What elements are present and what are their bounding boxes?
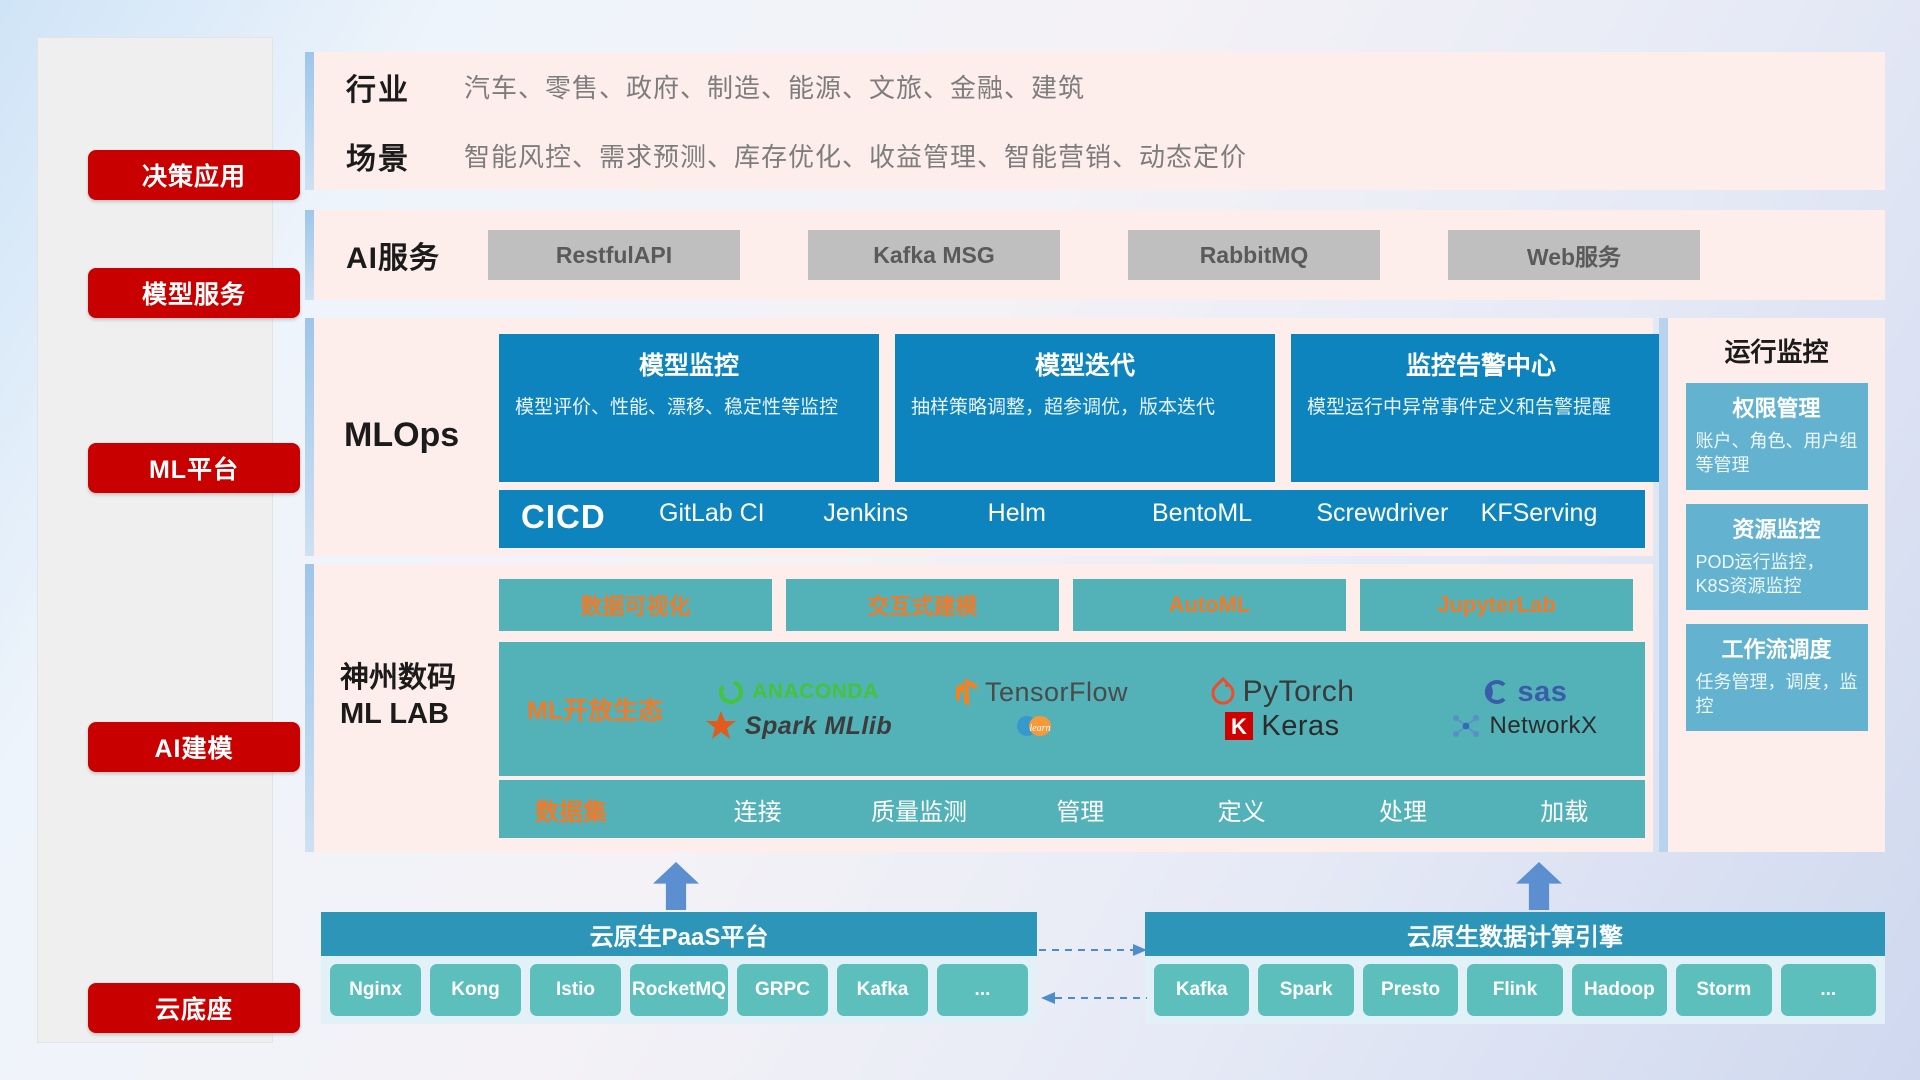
- cicd-item-jenkins[interactable]: Jenkins: [823, 490, 987, 526]
- arrow-up-data-engine-icon: [1516, 862, 1562, 910]
- card-title: 模型监控: [515, 346, 863, 382]
- ai-service-rabbitmq[interactable]: RabbitMQ: [1128, 230, 1380, 280]
- diagram-canvas: 决策应用 模型服务 ML平台 AI建模 云底座 行业 汽车、零售、政府、制造、能…: [0, 0, 1920, 1080]
- dataset-item-define[interactable]: 定义: [1161, 792, 1322, 827]
- ai-service-restfulapi[interactable]: RestfulAPI: [488, 230, 740, 280]
- decision-apps-band: 行业 汽车、零售、政府、制造、能源、文旅、金融、建筑 场景 智能风控、需求预测、…: [305, 52, 1885, 190]
- industry-row: 行业 汽车、零售、政府、制造、能源、文旅、金融、建筑: [314, 52, 1885, 121]
- logo-label: sas: [1518, 676, 1568, 709]
- ml-lab-label-line2: ML LAB: [340, 696, 500, 732]
- card-desc: POD运行监控，K8S资源监控: [1696, 550, 1858, 599]
- ml-lab-label: 神州数码 ML LAB: [340, 660, 500, 733]
- logo-sas: sas: [1403, 676, 1645, 709]
- rail-item-label: 云底座: [155, 990, 233, 1026]
- logo-label: NetworkX: [1489, 712, 1597, 740]
- scenario-values: 智能风控、需求预测、库存优化、收益管理、智能营销、动态定价: [464, 137, 1247, 174]
- logo-label: Spark MLlib: [745, 712, 892, 741]
- anaconda-icon: [717, 678, 745, 706]
- tech-kafka[interactable]: Kafka: [837, 964, 928, 1016]
- rail-item-label: 模型服务: [142, 275, 246, 311]
- ml-ecosystem-panel: ML开放生态 ANACONDA TensorFlow: [499, 642, 1645, 776]
- card-title: 监控告警中心: [1307, 346, 1655, 382]
- data-engine-stack-title: 云原生数据计算引擎: [1145, 912, 1885, 956]
- card-desc: 抽样策略调整，超参调优，版本迭代: [911, 394, 1259, 422]
- tech-istio[interactable]: Istio: [530, 964, 621, 1016]
- scikitlearn-icon: learn: [1017, 713, 1051, 739]
- tech-kong[interactable]: Kong: [430, 964, 521, 1016]
- logo-networkx: NetworkX: [1403, 711, 1645, 741]
- pytorch-icon: [1210, 677, 1236, 707]
- tech-kafka[interactable]: Kafka: [1154, 964, 1249, 1016]
- ai-services-label: AI服务: [346, 233, 464, 277]
- scenario-label: 场景: [346, 134, 464, 178]
- tech-grpc[interactable]: GRPC: [737, 964, 828, 1016]
- networkx-icon: [1450, 711, 1482, 741]
- rail-item-label: AI建模: [154, 729, 233, 765]
- lab-tool-data-visualization[interactable]: 数据可视化: [499, 579, 772, 631]
- logo-label: PyTorch: [1243, 675, 1355, 709]
- dataset-item-process[interactable]: 处理: [1322, 792, 1483, 827]
- ecosystem-logo-grid: ANACONDA TensorFlow PyTorch: [677, 675, 1645, 743]
- ai-services-chip-group: RestfulAPI Kafka MSG RabbitMQ Web服务: [488, 230, 1700, 280]
- lab-tool-automl[interactable]: AutoML: [1073, 579, 1346, 631]
- industry-label: 行业: [346, 65, 464, 109]
- layer-rail: 决策应用 模型服务 ML平台 AI建模 云底座: [38, 38, 272, 1042]
- lab-tool-jupyterlab[interactable]: JupyterLab: [1360, 579, 1633, 631]
- paas-tech-group: Nginx Kong Istio RocketMQ GRPC Kafka ...: [321, 956, 1037, 1024]
- data-engine-tech-group: Kafka Spark Presto Flink Hadoop Storm ..…: [1145, 956, 1885, 1024]
- card-desc: 模型运行中异常事件定义和告警提醒: [1307, 394, 1655, 422]
- mlops-band: MLOps 模型监控 模型评价、性能、漂移、稳定性等监控 模型迭代 抽样策略调整…: [305, 318, 1653, 556]
- spark-icon: [704, 711, 738, 741]
- ai-services-band: AI服务 RestfulAPI Kafka MSG RabbitMQ Web服务: [305, 210, 1885, 300]
- mlops-card-alert-center[interactable]: 监控告警中心 模型运行中异常事件定义和告警提醒: [1291, 334, 1671, 482]
- card-desc: 账户、角色、用户组等管理: [1696, 429, 1858, 478]
- main-column: 行业 汽车、零售、政府、制造、能源、文旅、金融、建筑 场景 智能风控、需求预测、…: [305, 0, 1885, 1080]
- data-engine-stack: 云原生数据计算引擎 Kafka Spark Presto Flink Hadoo…: [1145, 912, 1885, 1024]
- cicd-item-screwdriver[interactable]: Screwdriver: [1316, 490, 1480, 526]
- connector-arrowhead-left-icon: [1041, 992, 1055, 1004]
- dataset-item-load[interactable]: 加载: [1484, 792, 1645, 827]
- dataset-row: 数据集 连接 质量监测 管理 定义 处理 加载: [499, 780, 1645, 838]
- tech-more[interactable]: ...: [1781, 964, 1876, 1016]
- svg-text:learn: learn: [1029, 723, 1050, 734]
- sas-icon: [1481, 677, 1511, 707]
- industry-values: 汽车、零售、政府、制造、能源、文旅、金融、建筑: [464, 68, 1085, 105]
- logo-tensorflow: TensorFlow: [919, 677, 1161, 708]
- logo-pytorch: PyTorch: [1161, 675, 1403, 709]
- cicd-item-gitlab-ci[interactable]: GitLab CI: [659, 490, 823, 526]
- rail-item-label: 决策应用: [142, 157, 246, 193]
- dataset-item-quality-monitor[interactable]: 质量监测: [838, 792, 999, 827]
- keras-icon: K: [1224, 711, 1254, 741]
- card-desc: 任务管理，调度，监控: [1696, 670, 1858, 719]
- cicd-item-helm[interactable]: Helm: [988, 490, 1152, 526]
- runtime-monitoring-title: 运行监控: [1668, 318, 1885, 369]
- monitor-card-resource[interactable]: 资源监控 POD运行监控，K8S资源监控: [1686, 504, 1868, 611]
- rail-item-label: ML平台: [149, 450, 239, 486]
- svg-text:K: K: [1231, 714, 1247, 739]
- card-title: 权限管理: [1696, 391, 1858, 423]
- logo-label: TensorFlow: [985, 677, 1128, 708]
- rail-item-decision-apps[interactable]: 决策应用: [88, 150, 300, 200]
- logo-keras: K Keras: [1161, 710, 1403, 743]
- lab-tool-interactive-modeling[interactable]: 交互式建模: [786, 579, 1059, 631]
- monitor-card-permission[interactable]: 权限管理 账户、角色、用户组等管理: [1686, 383, 1868, 490]
- ml-lab-label-line1: 神州数码: [340, 660, 500, 696]
- card-desc: 模型评价、性能、漂移、稳定性等监控: [515, 394, 863, 422]
- rail-item-cloud-foundation[interactable]: 云底座: [88, 983, 300, 1033]
- cicd-title: CICD: [499, 490, 659, 536]
- rail-item-model-service[interactable]: 模型服务: [88, 268, 300, 318]
- lab-tool-group: 数据可视化 交互式建模 AutoML JupyterLab: [499, 579, 1633, 631]
- dataset-item-manage[interactable]: 管理: [1000, 792, 1161, 827]
- logo-label: Keras: [1261, 710, 1339, 743]
- connector-arrowhead-right-icon: [1133, 944, 1147, 956]
- rail-item-ml-platform[interactable]: ML平台: [88, 443, 300, 493]
- card-title: 工作流调度: [1696, 632, 1858, 664]
- card-title: 资源监控: [1696, 512, 1858, 544]
- rail-item-ai-modeling[interactable]: AI建模: [88, 722, 300, 772]
- tech-nginx[interactable]: Nginx: [330, 964, 421, 1016]
- ml-lab-band: 神州数码 ML LAB 数据可视化 交互式建模 AutoML JupyterLa…: [305, 564, 1653, 852]
- tech-flink[interactable]: Flink: [1467, 964, 1562, 1016]
- tech-more[interactable]: ...: [937, 964, 1028, 1016]
- mlops-label: MLOps: [344, 416, 494, 455]
- tech-presto[interactable]: Presto: [1363, 964, 1458, 1016]
- ai-service-kafka-msg[interactable]: Kafka MSG: [808, 230, 1060, 280]
- tech-hadoop[interactable]: Hadoop: [1572, 964, 1667, 1016]
- paas-stack: 云原生PaaS平台 Nginx Kong Istio RocketMQ GRPC…: [321, 912, 1037, 1024]
- card-title: 模型迭代: [911, 346, 1259, 382]
- logo-label: ANACONDA: [752, 680, 879, 704]
- logo-spark-mllib: Spark MLlib: [677, 711, 919, 741]
- mlops-card-group: 模型监控 模型评价、性能、漂移、稳定性等监控 模型迭代 抽样策略调整，超参调优，…: [499, 334, 1671, 482]
- scenario-row: 场景 智能风控、需求预测、库存优化、收益管理、智能营销、动态定价: [314, 121, 1885, 190]
- arrow-up-paas-icon: [653, 862, 699, 910]
- monitor-card-workflow[interactable]: 工作流调度 任务管理，调度，监控: [1686, 624, 1868, 731]
- logo-scikit-learn: learn scikit-learn: [919, 713, 1161, 739]
- tech-storm[interactable]: Storm: [1676, 964, 1771, 1016]
- cicd-item-bentoml[interactable]: BentoML: [1152, 490, 1316, 526]
- tech-rocketmq[interactable]: RocketMQ: [630, 964, 728, 1016]
- cicd-bar: CICD GitLab CI Jenkins Helm BentoML Scre…: [499, 490, 1645, 548]
- dataset-item-connect[interactable]: 连接: [677, 792, 838, 827]
- dataset-label: 数据集: [499, 792, 677, 827]
- tech-spark[interactable]: Spark: [1258, 964, 1353, 1016]
- paas-stack-title: 云原生PaaS平台: [321, 912, 1037, 956]
- tensorflow-icon: [952, 677, 978, 707]
- mlops-card-model-iteration[interactable]: 模型迭代 抽样策略调整，超参调优，版本迭代: [895, 334, 1275, 482]
- cicd-item-kfserving[interactable]: KFServing: [1481, 490, 1645, 526]
- mlops-card-model-monitoring[interactable]: 模型监控 模型评价、性能、漂移、稳定性等监控: [499, 334, 879, 482]
- ai-service-web[interactable]: Web服务: [1448, 230, 1700, 280]
- stack-connector-arrows: [1035, 930, 1155, 1020]
- logo-anaconda: ANACONDA: [677, 678, 919, 706]
- ml-ecosystem-label: ML开放生态: [499, 691, 677, 727]
- runtime-monitoring-panel: 运行监控 权限管理 账户、角色、用户组等管理 资源监控 POD运行监控，K8S资…: [1659, 318, 1885, 852]
